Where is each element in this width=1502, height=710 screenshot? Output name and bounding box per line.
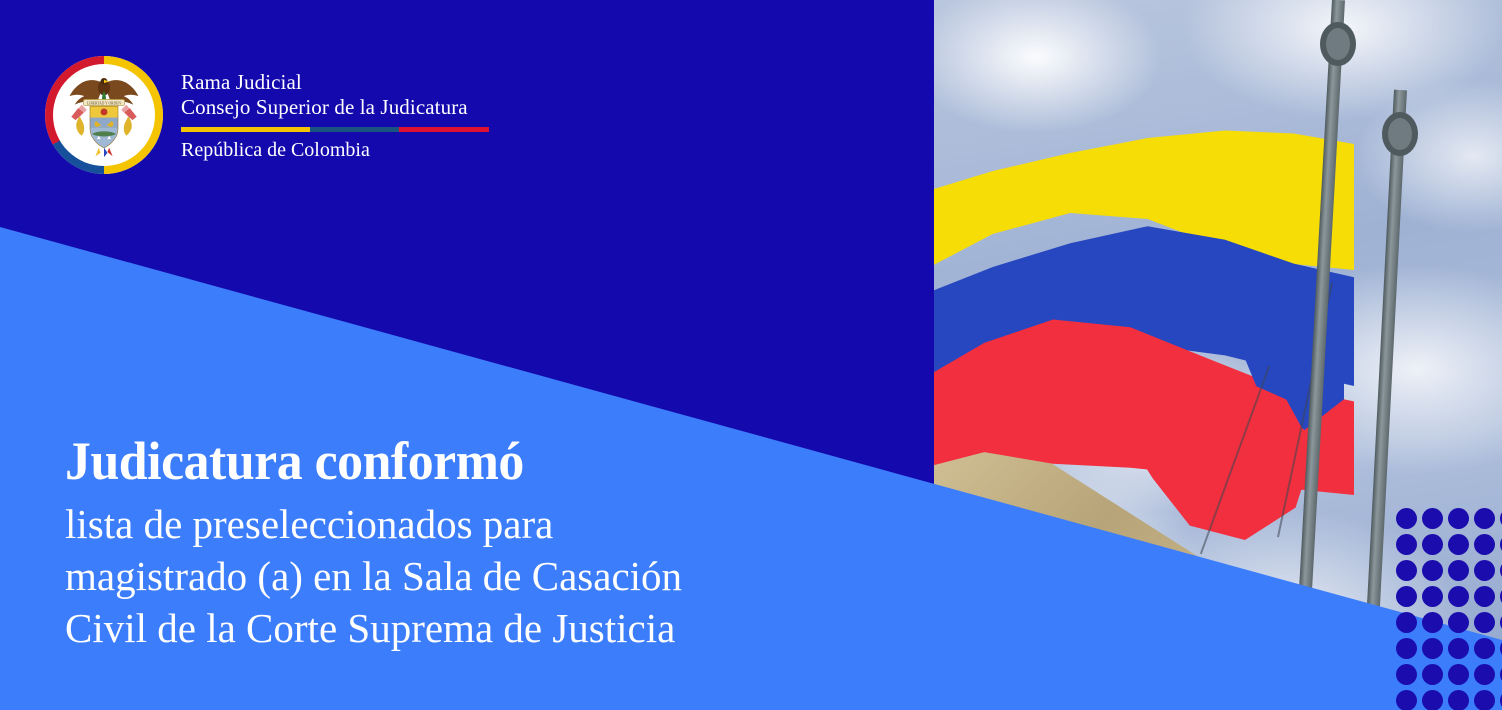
grid-dot <box>1422 690 1443 710</box>
tricolor-rule <box>181 127 489 132</box>
grid-dot <box>1474 508 1495 529</box>
flagpole-finial-secondary <box>1382 112 1418 156</box>
grid-dot <box>1448 534 1469 555</box>
grid-dot <box>1474 586 1495 607</box>
headline-subtitle-line-1: lista de preseleccionados para <box>65 498 785 550</box>
grid-dot <box>1396 534 1417 555</box>
headline-subtitle-line-3: Civil de la Corte Suprema de Justicia <box>65 602 785 654</box>
grid-dot <box>1448 508 1469 529</box>
logo-line-republica: República de Colombia <box>181 138 489 162</box>
headline-block: Judicatura conformó lista de preseleccio… <box>65 432 785 654</box>
judicial-news-banner: LIBERTAD Y ORDEN <box>0 0 1502 710</box>
svg-text:LIBERTAD Y ORDEN: LIBERTAD Y ORDEN <box>87 101 121 105</box>
grid-dot <box>1474 534 1495 555</box>
grid-dot <box>1396 612 1417 633</box>
grid-dot <box>1396 560 1417 581</box>
grid-dot <box>1422 612 1443 633</box>
grid-dot <box>1422 560 1443 581</box>
grid-dot <box>1422 586 1443 607</box>
headline-subtitle-line-2: magistrado (a) en la Sala de Casación <box>65 550 785 602</box>
grid-dot <box>1422 638 1443 659</box>
tricolor-segment-yellow <box>181 127 310 132</box>
headline-title: Judicatura conformó <box>65 432 756 490</box>
tricolor-segment-red <box>399 127 489 132</box>
logo-wordmark: Rama Judicial Consejo Superior de la Jud… <box>181 68 489 162</box>
grid-dot <box>1422 664 1443 685</box>
grid-dot <box>1448 612 1469 633</box>
tricolor-segment-blue <box>310 127 399 132</box>
grid-dot <box>1396 690 1417 710</box>
grid-dot <box>1474 690 1495 710</box>
seal-inner-white: LIBERTAD Y ORDEN <box>53 64 155 166</box>
grid-dot <box>1422 534 1443 555</box>
grid-dot <box>1396 638 1417 659</box>
grid-dot <box>1448 586 1469 607</box>
grid-dot <box>1474 638 1495 659</box>
colombia-coat-of-arms-icon: LIBERTAD Y ORDEN <box>61 72 147 158</box>
coat-of-arms-seal: LIBERTAD Y ORDEN <box>45 56 163 174</box>
grid-dot <box>1474 664 1495 685</box>
grid-dot <box>1474 612 1495 633</box>
dot-grid-decoration <box>1396 508 1502 710</box>
flagpole-finial-primary <box>1320 22 1356 66</box>
grid-dot <box>1396 508 1417 529</box>
grid-dot <box>1448 690 1469 710</box>
logo-line-rama-judicial: Rama Judicial <box>181 70 489 95</box>
grid-dot <box>1396 664 1417 685</box>
logo-line-consejo-superior: Consejo Superior de la Judicatura <box>181 95 489 120</box>
institutional-logo: LIBERTAD Y ORDEN <box>45 56 489 174</box>
grid-dot <box>1396 586 1417 607</box>
headline-subtitle: lista de preseleccionados para magistrad… <box>65 498 785 654</box>
grid-dot <box>1448 560 1469 581</box>
grid-dot <box>1448 664 1469 685</box>
grid-dot <box>1448 638 1469 659</box>
grid-dot <box>1422 508 1443 529</box>
grid-dot <box>1474 560 1495 581</box>
